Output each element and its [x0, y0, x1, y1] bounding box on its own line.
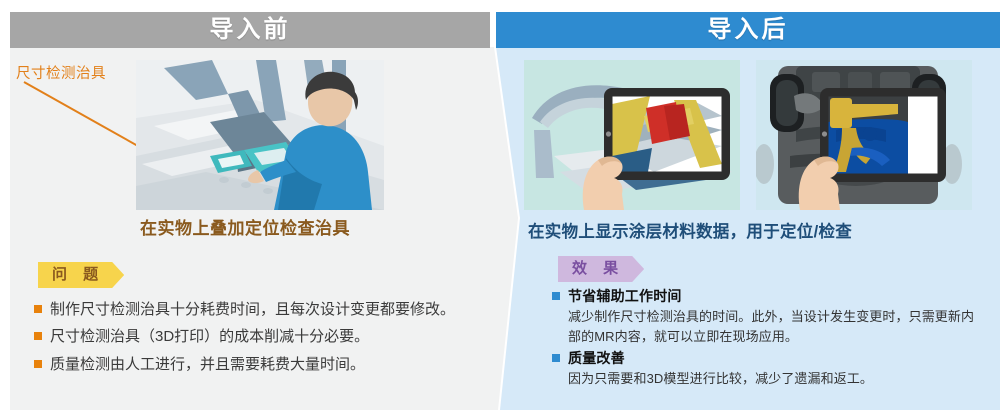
list-item: 节省辅助工作时间 减少制作尺寸检测治具的时间。此外，当设计发生变更时，只需更新内…: [552, 286, 982, 346]
bullet-heading: 质量改善: [568, 348, 982, 369]
illustration-worker-with-jigs: [136, 60, 384, 210]
badge-problem: 问 题: [38, 262, 124, 288]
bullet-body: 减少制作尺寸检测治具的时间。此外，当设计发生变更时，只需更新内部的MR内容，就可…: [568, 307, 982, 346]
bullet-heading: 节省辅助工作时间: [568, 286, 982, 307]
right-caption: 在实物上显示涂层材料数据，用于定位/检查: [528, 218, 988, 242]
header-after: 导入后: [496, 12, 1000, 48]
tablet-ar-undercarriage-photo: [756, 60, 972, 210]
problem-bullet-list: 制作尺寸检测治具十分耗费时间，且每次设计变更都要修改。 尺寸检测治具（3D打印）…: [34, 298, 484, 380]
list-item: 尺寸检测治具（3D打印）的成本削减十分必要。: [34, 325, 484, 348]
header-before: 导入前: [10, 12, 490, 48]
bullet-body: 因为只需要和3D模型进行比较，减少了遗漏和返工。: [568, 369, 982, 389]
annotation-label-jig: 尺寸检测治具: [16, 62, 106, 83]
list-item: 质量改善 因为只需要和3D模型进行比较，减少了遗漏和返工。: [552, 348, 982, 389]
bullet-text: 制作尺寸检测治具十分耗费时间，且每次设计变更都要修改。: [50, 301, 455, 318]
list-item: 制作尺寸检测治具十分耗费时间，且每次设计变更都要修改。: [34, 298, 484, 321]
bullet-text: 质量检测由人工进行，并且需要耗费大量时间。: [50, 356, 365, 373]
list-item: 质量检测由人工进行，并且需要耗费大量时间。: [34, 353, 484, 376]
left-caption: 在实物上叠加定位检查治具: [10, 214, 480, 239]
badge-effect: 效 果: [558, 256, 644, 282]
bullet-text: 尺寸检测治具（3D打印）的成本削减十分必要。: [50, 328, 369, 345]
effect-bullet-list: 节省辅助工作时间 减少制作尺寸检测治具的时间。此外，当设计发生变更时，只需更新内…: [552, 286, 982, 391]
tablet-ar-car-body-photo: [524, 60, 740, 210]
